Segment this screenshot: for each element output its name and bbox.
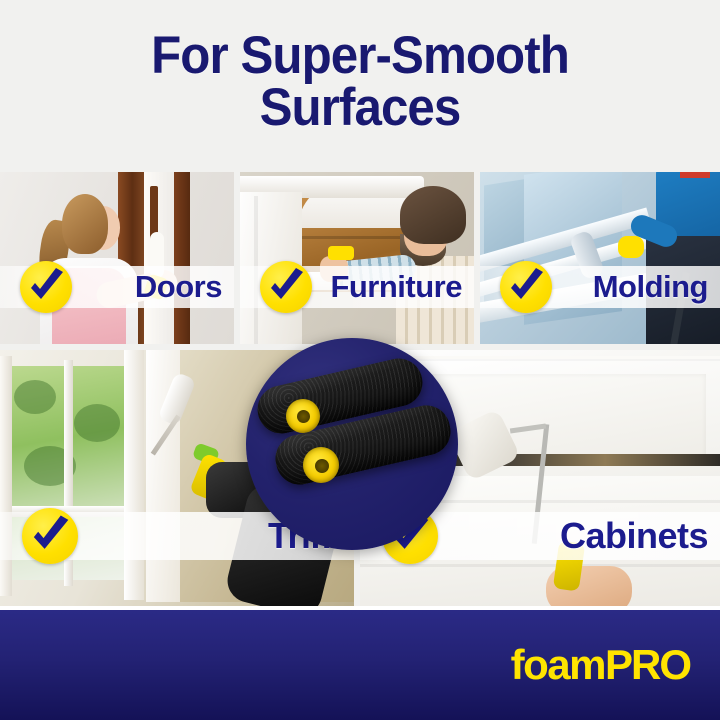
brand-logo-pro: PRO [605, 641, 690, 688]
checkmark-icon [22, 508, 78, 564]
panel-doors[interactable]: Doors [0, 172, 234, 344]
checkmark-icon [500, 261, 552, 313]
headline-line-2: Surfaces [25, 82, 695, 134]
roller-end-cap-hole [315, 459, 329, 473]
panel-molding[interactable]: Molding [480, 172, 720, 344]
panel-label-doors: Doors [135, 269, 234, 305]
molding-scene-image [480, 172, 720, 344]
checkmark-icon [260, 261, 312, 313]
headline-line-1: For Super-Smooth [151, 26, 569, 85]
product-badge[interactable] [246, 338, 458, 550]
panel-furniture[interactable]: Furniture [240, 172, 474, 344]
doors-scene-image [0, 172, 234, 344]
brand-logo-foam: foam [511, 641, 605, 688]
brand-logo[interactable]: foamPRO [511, 644, 720, 686]
panel-label-furniture: Furniture [330, 269, 474, 305]
marketing-image-canvas: For Super-Smooth Surfaces Doors [0, 0, 720, 720]
panel-label-molding: Molding [593, 269, 720, 305]
panel-label-cabinets: Cabinets [560, 515, 720, 557]
page-title: For Super-Smooth Surfaces [25, 30, 695, 134]
checkmark-icon [20, 261, 72, 313]
roller-end-cap-hole [297, 410, 310, 423]
furniture-scene-image [240, 172, 474, 344]
footer-bar: foamPRO [0, 610, 720, 720]
